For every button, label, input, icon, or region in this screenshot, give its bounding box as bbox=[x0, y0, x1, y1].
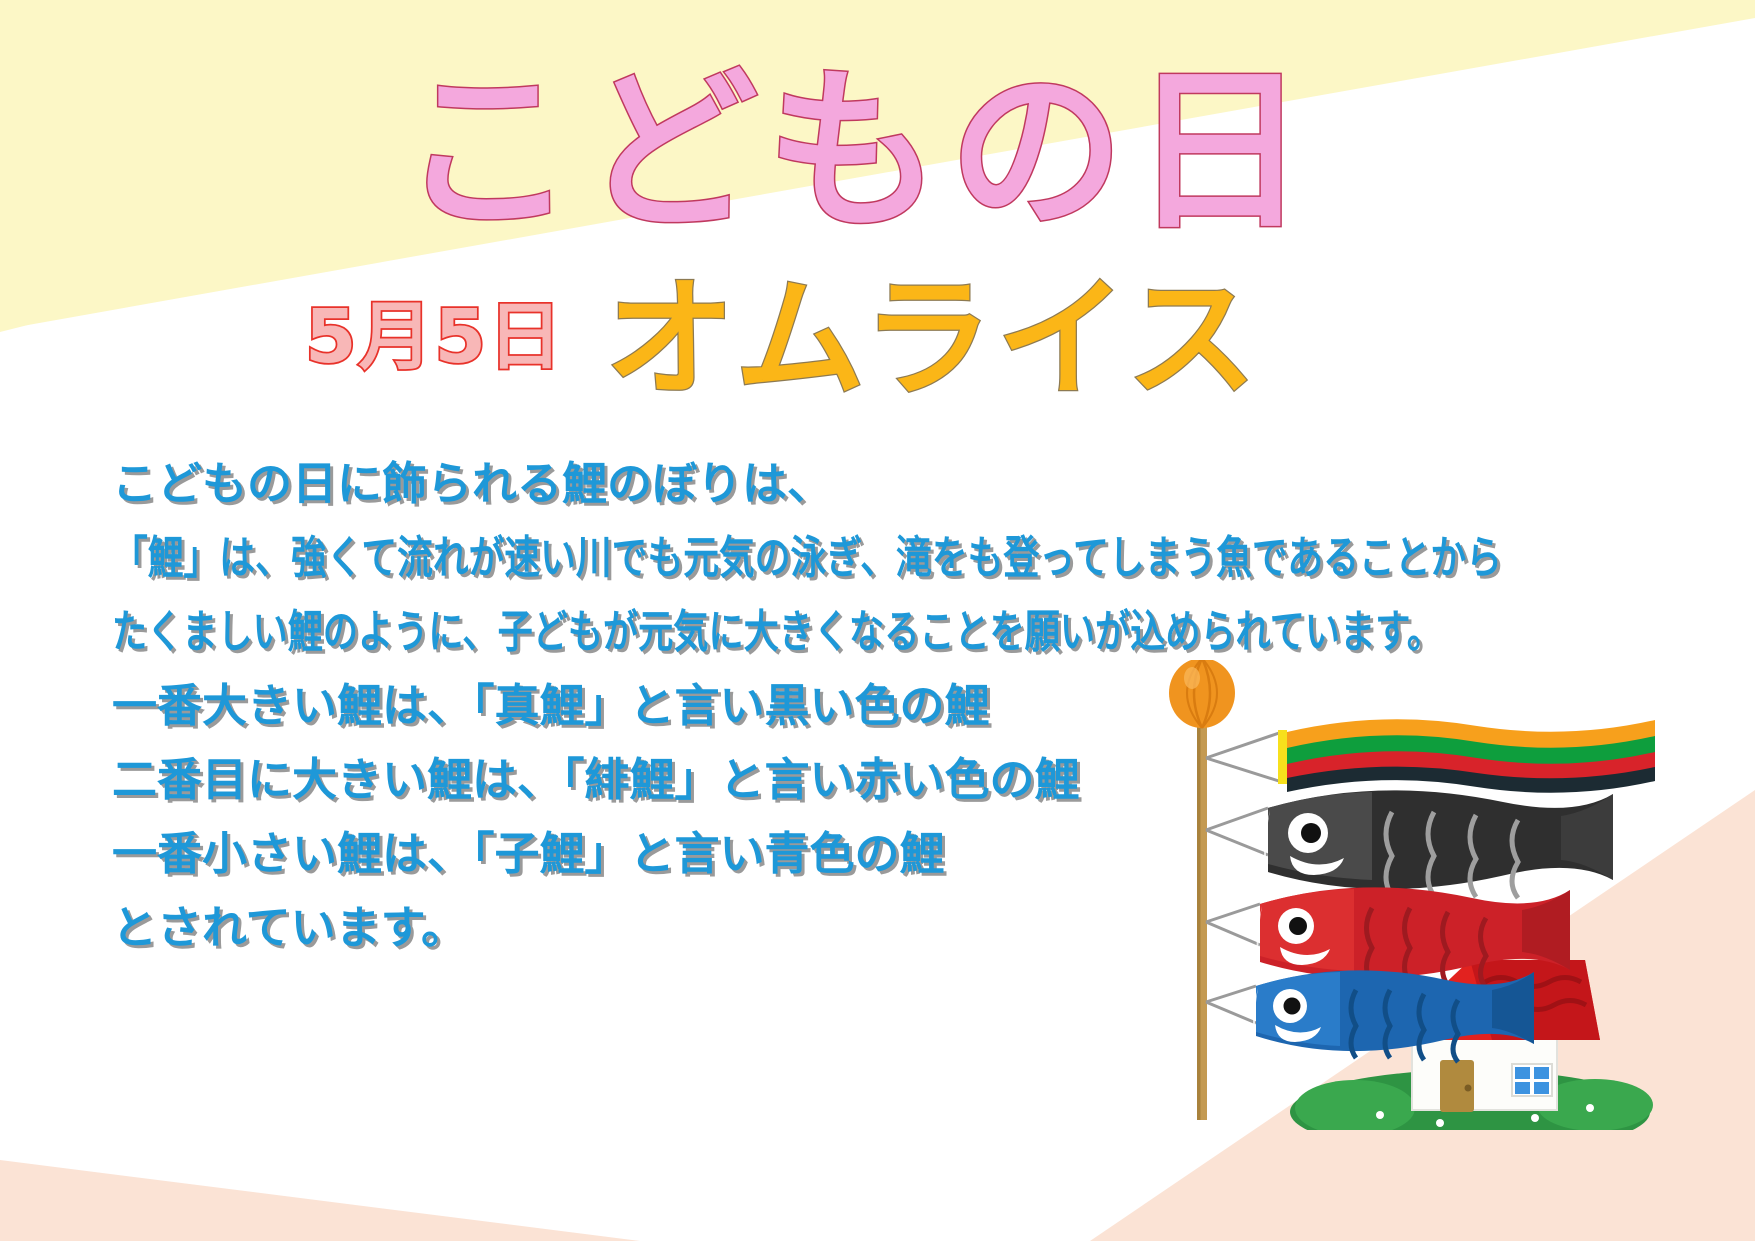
ball-finial-icon bbox=[1169, 660, 1235, 728]
body-line-2: 「鯉」は、強くて流れが速い川でも元気の泳ぎ、滝をも登ってしまう魚であることから … bbox=[112, 521, 1512, 595]
date-text: 5月5日 bbox=[305, 294, 564, 380]
body-line-4-text: 一番大きい鯉は、「真鯉」と言い黒い色の鯉 bbox=[112, 679, 990, 732]
body-line-6-text: 一番小さい鯉は、「子鯉」と言い青色の鯉 bbox=[112, 827, 945, 880]
body-line-1-text: こどもの日に飾られる鯉のぼりは、 bbox=[112, 457, 832, 510]
subtitle-text: オムライス bbox=[605, 263, 1261, 415]
main-title-text: こどもの日 bbox=[400, 51, 1315, 254]
body-line-5-text: 二番目に大きい鯉は、「緋鯉」と言い赤い色の鯉 bbox=[112, 753, 1080, 806]
body-line-3-text: たくましい鯉のように、子どもが元気に大きくなることを願いが込められています。 bbox=[112, 605, 1442, 658]
body-line-7-text: とされています。 bbox=[112, 901, 466, 954]
poster-canvas: こどもの日 5月5日 オムライス こどもの日に飾られる鯉のぼりは、 こどもの日に… bbox=[0, 0, 1755, 1241]
poster-main-title: こどもの日 bbox=[400, 52, 1360, 252]
koinobori-illustration bbox=[1140, 660, 1700, 1130]
poster-date: 5月5日 bbox=[305, 288, 545, 380]
rainbow-streamer-icon bbox=[1206, 719, 1655, 793]
poster-subtitle: オムライス bbox=[605, 262, 1365, 412]
body-line-1: こどもの日に飾られる鯉のぼりは、 こどもの日に飾られる鯉のぼりは、 bbox=[112, 447, 1512, 521]
body-line-3: たくましい鯉のように、子どもが元気に大きくなることを願いが込められています。 た… bbox=[112, 595, 1512, 669]
body-line-2-text: 「鯉」は、強くて流れが速い川でも元気の泳ぎ、滝をも登ってしまう魚であることから bbox=[112, 531, 1502, 584]
black-carp-icon bbox=[1206, 790, 1613, 900]
